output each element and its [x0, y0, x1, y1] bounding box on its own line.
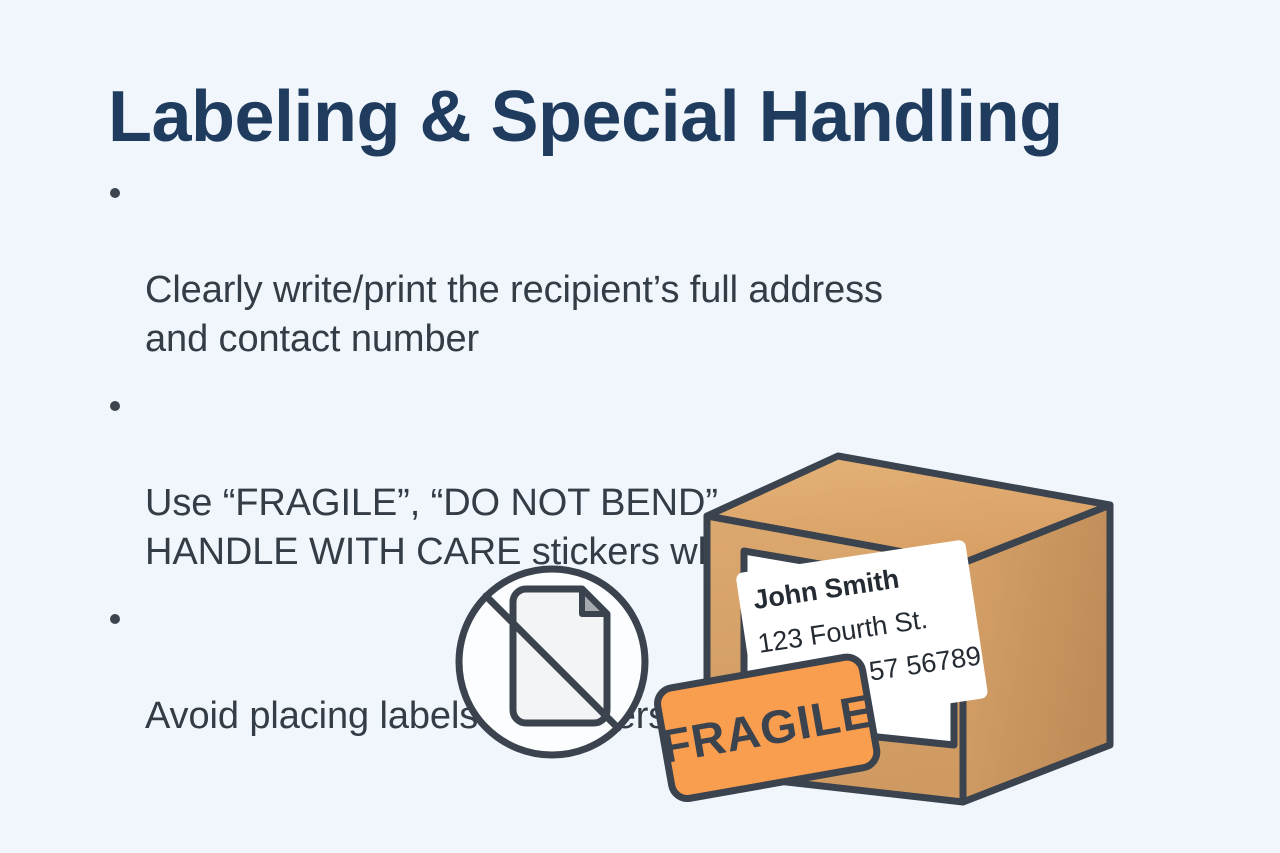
bullet-dot-icon — [110, 401, 120, 411]
slide-canvas: Labeling & Special Handling Clearly writ… — [0, 0, 1280, 853]
page-title: Labeling & Special Handling — [108, 81, 1198, 153]
list-item: Use “FRAGILE”, “DO NOT BEND”, or HANDLE … — [104, 381, 1204, 577]
list-item-text: Avoid placing labels on corners or over … — [145, 695, 1022, 737]
bullet-dot-icon — [110, 614, 120, 624]
bullet-list: Clearly write/print the recipient’s full… — [104, 168, 1204, 741]
list-item-text: Use “FRAGILE”, “DO NOT BEND”, or HANDLE … — [145, 482, 956, 573]
list-item: Avoid placing labels on corners or over … — [104, 594, 1204, 741]
bullet-dot-icon — [110, 188, 120, 198]
list-item: Clearly write/print the recipient’s full… — [104, 168, 1204, 364]
list-item-text: Clearly write/print the recipient’s full… — [145, 269, 883, 360]
